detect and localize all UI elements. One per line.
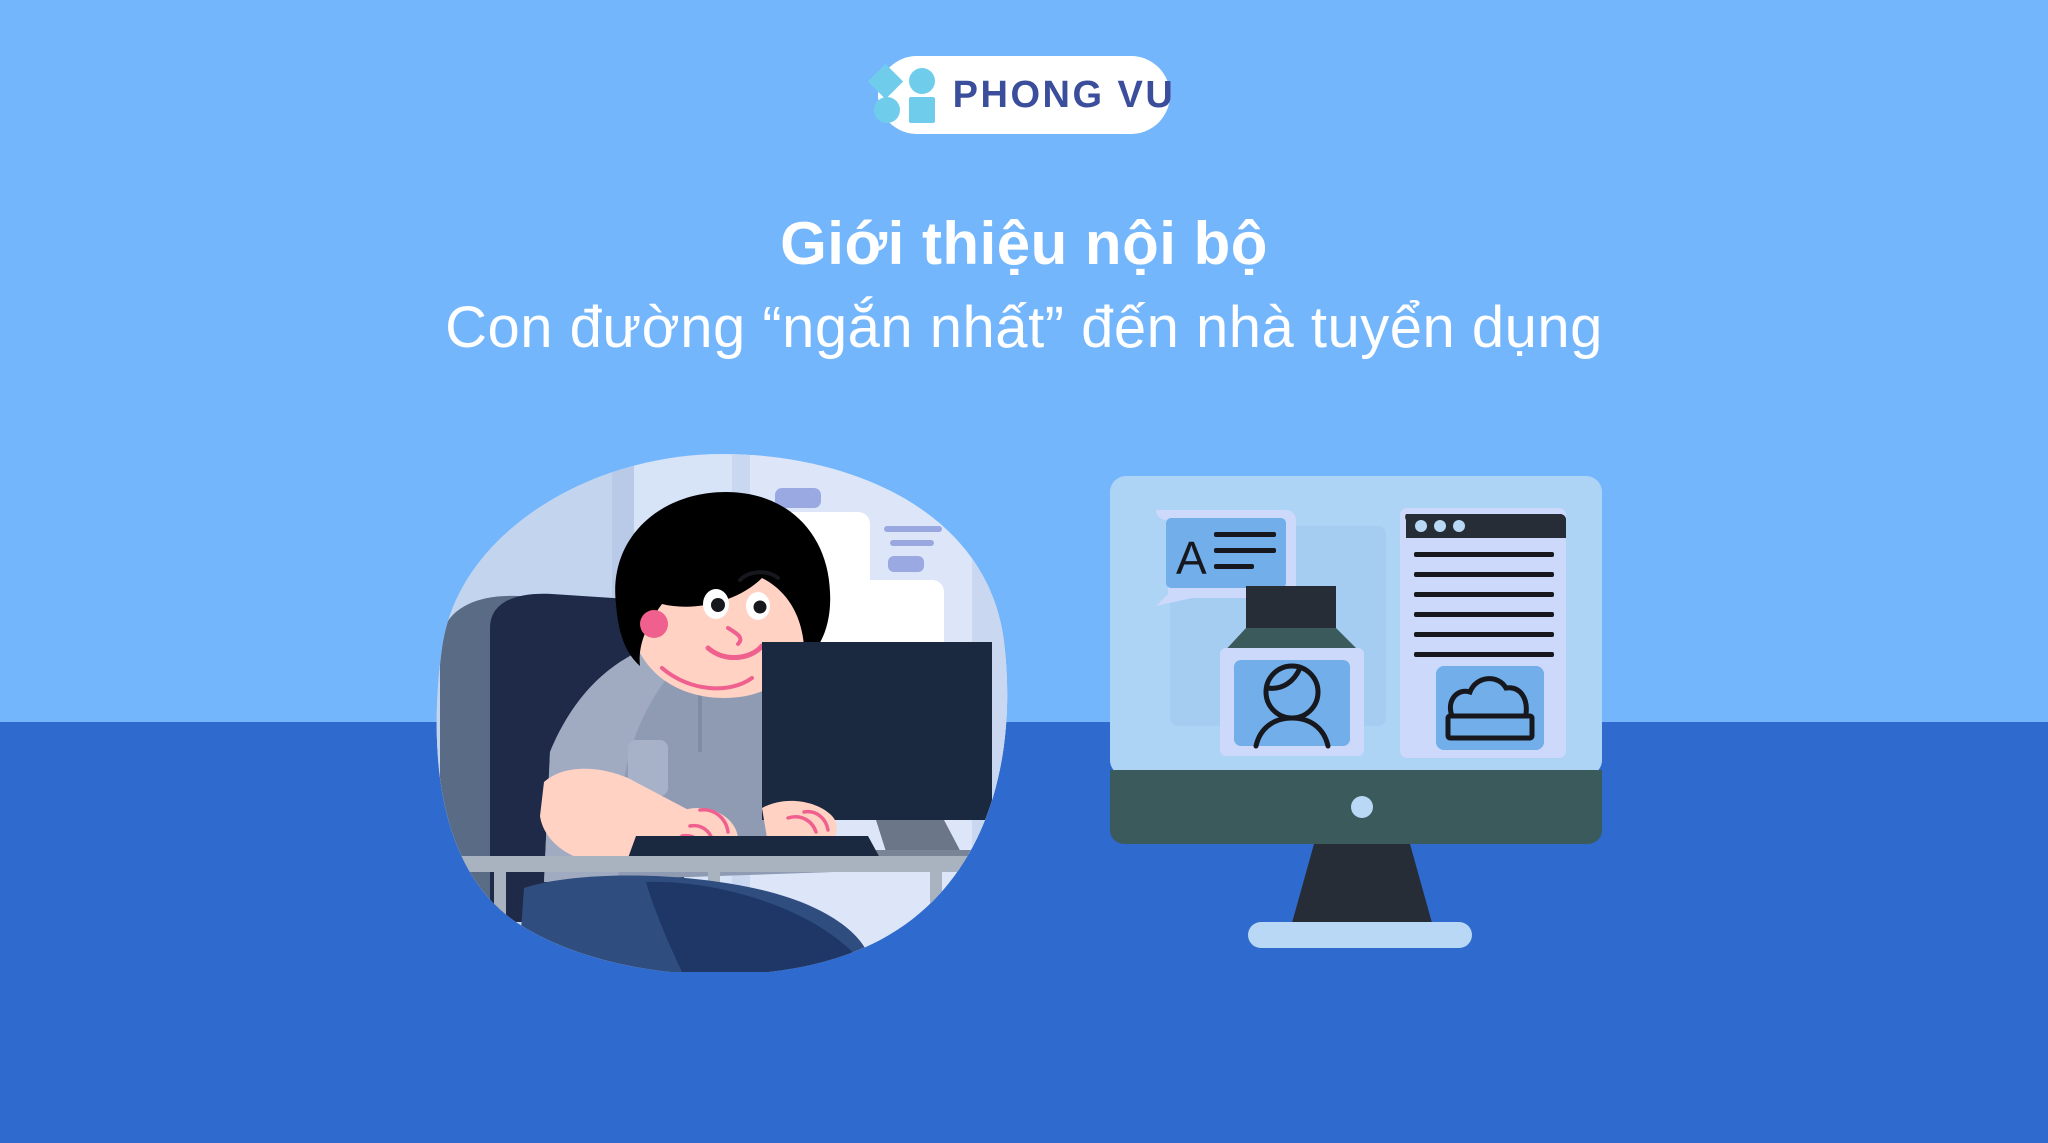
monitor-stand — [1290, 844, 1434, 930]
svg-text:A: A — [1176, 532, 1207, 584]
background-bottom-band — [0, 722, 2048, 1143]
logo-mark-group — [873, 67, 937, 123]
logo-wordmark: PHONG VU — [953, 76, 1176, 114]
logo-diamond-icon — [867, 64, 902, 99]
illustration-desktop-monitor: A — [1096, 470, 1616, 950]
browser-window-card — [1400, 508, 1566, 758]
monitor-base — [1248, 922, 1472, 948]
logo-circle-top-right-icon — [909, 68, 935, 94]
page-subtitle: Con đường “ngắn nhất” đến nhà tuyển dụng — [0, 295, 2048, 362]
page-title: Giới thiệu nội bộ — [0, 212, 2048, 275]
poster-canvas: PHONG VU Giới thiệu nội bộ Con đường “ng… — [0, 0, 2048, 1143]
power-indicator — [1351, 796, 1373, 818]
logo-square-bottom-right-icon — [909, 97, 935, 123]
browser-dot-1 — [1415, 520, 1427, 532]
brand-logo[interactable]: PHONG VU — [878, 56, 1170, 134]
illustration-person-working — [432, 452, 1012, 972]
browser-dot-3 — [1453, 520, 1465, 532]
logo-circle-bottom-left-icon — [874, 97, 900, 123]
browser-dot-2 — [1434, 520, 1446, 532]
scene-blob — [432, 452, 1012, 972]
